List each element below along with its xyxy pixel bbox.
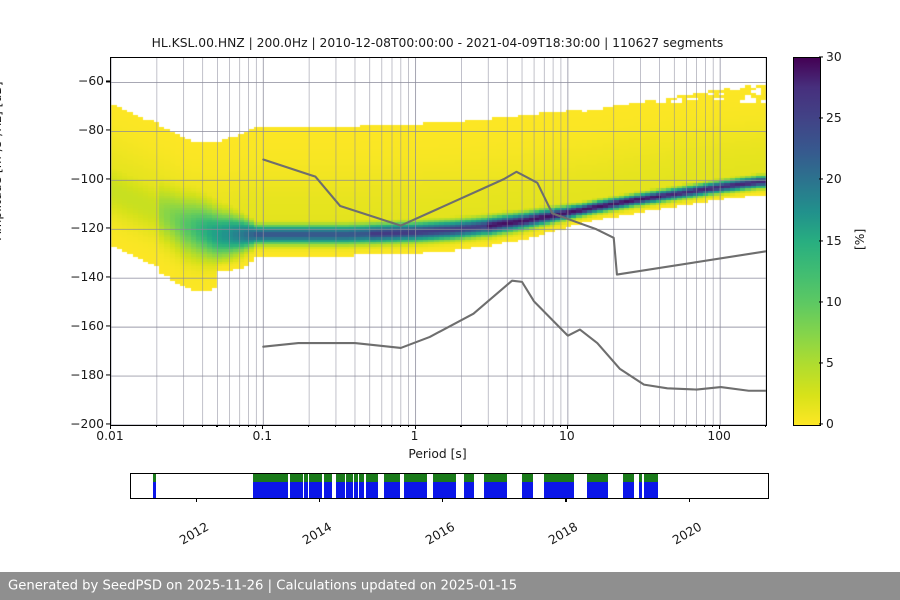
x-axis-tick-mark: [183, 425, 184, 427]
timeline-segment-lower: [153, 482, 155, 498]
x-axis-tick-mark: [696, 425, 697, 427]
timeline-tick-mark: [442, 498, 443, 502]
timeline-segment-upper: [336, 474, 345, 482]
timeline-segment-upper: [324, 474, 331, 482]
y-axis-tick-label: −100: [58, 172, 104, 186]
y-axis-tick-label: −80: [58, 123, 104, 137]
colorbar: [793, 57, 821, 426]
x-axis-tick-mark: [202, 425, 203, 427]
x-axis-tick-mark: [369, 425, 370, 427]
y-axis-tick-mark: [106, 277, 110, 278]
timeline-segment-lower: [304, 482, 308, 498]
timeline-segment-lower: [464, 482, 474, 498]
colorbar-tick-mark: [819, 301, 823, 302]
timeline-segment-upper: [384, 474, 400, 482]
x-axis-tick-mark: [229, 425, 230, 427]
timeline-segment-upper: [309, 474, 323, 482]
x-axis-tick-mark: [543, 425, 544, 427]
timeline-tick-mark: [196, 498, 197, 502]
timeline-tick-label: 2020: [670, 520, 704, 548]
timeline-segment-upper: [644, 474, 658, 482]
x-axis-tick-mark: [354, 425, 355, 427]
timeline-segment-upper: [522, 474, 533, 482]
x-axis-tick-mark: [156, 425, 157, 427]
timeline-tick-mark: [689, 498, 690, 502]
timeline-tick-label: 2016: [423, 520, 457, 548]
timeline-segment-upper: [304, 474, 308, 482]
colorbar-tick-mark: [819, 179, 823, 180]
timeline-segment-upper: [544, 474, 574, 482]
timeline-segment-upper: [464, 474, 474, 482]
x-axis-tick-mark: [248, 425, 249, 427]
y-axis-label: Amplitude [m²/s⁴/Hz] [dB]: [0, 82, 4, 241]
timeline-segment-upper: [153, 474, 155, 482]
x-axis-tick-mark: [308, 425, 309, 427]
x-axis-tick-label: 0.01: [96, 429, 123, 443]
x-axis-tick-label: 0.1: [253, 429, 273, 443]
x-axis-tick-mark: [391, 425, 392, 427]
timeline-segment-lower: [484, 482, 507, 498]
x-axis-tick-mark: [460, 425, 461, 427]
x-axis-tick-label: 1: [411, 429, 419, 443]
colorbar-tick-label: 10: [826, 295, 842, 309]
y-axis-tick-label: −140: [58, 270, 104, 284]
timeline-segment-lower: [522, 482, 533, 498]
timeline-segment-lower: [644, 482, 658, 498]
colorbar-tick-label: 30: [826, 50, 842, 64]
timeline-segment-upper: [354, 474, 357, 482]
x-axis-tick-mark: [521, 425, 522, 427]
y-axis-tick-label: −180: [58, 368, 104, 382]
y-axis-tick-mark: [106, 130, 110, 131]
footer-text: Generated by SeedPSD on 2025-11-26 | Cal…: [8, 579, 517, 594]
x-axis-tick-mark: [216, 425, 217, 427]
x-axis-tick-mark: [533, 425, 534, 427]
x-axis-tick-mark: [673, 425, 674, 427]
colorbar-tick-label: 5: [826, 356, 834, 370]
colorbar-tick-mark: [819, 56, 823, 57]
x-axis-tick-mark: [239, 425, 240, 427]
x-axis-tick-label: 10: [559, 429, 575, 443]
timeline-segment-upper: [366, 474, 379, 482]
x-axis-label: Period [s]: [110, 447, 765, 461]
timeline-segment-upper: [639, 474, 641, 482]
x-axis-tick-mark: [381, 425, 382, 427]
timeline-segment-lower: [639, 482, 641, 498]
x-axis-tick-mark: [712, 425, 713, 427]
timeline-segment-upper: [253, 474, 288, 482]
y-axis-tick-mark: [106, 326, 110, 327]
timeline-tick-label: 2012: [177, 520, 211, 548]
timeline-segment-lower: [404, 482, 427, 498]
colorbar-tick-mark: [819, 362, 823, 363]
timeline-segment-upper: [404, 474, 427, 482]
colorbar-unit-label: [%]: [853, 229, 867, 250]
x-axis-tick-label: 100: [707, 429, 730, 443]
timeline-segment-upper: [433, 474, 456, 482]
timeline-tick-mark: [565, 498, 566, 502]
colorbar-tick-mark: [819, 423, 823, 424]
x-axis-tick-mark: [560, 425, 561, 427]
timeline-segment-lower: [433, 482, 456, 498]
timeline-segment-lower: [544, 482, 574, 498]
colorbar-tick-label: 0: [826, 417, 834, 431]
timeline-tick-mark: [319, 498, 320, 502]
timeline-segment-lower: [324, 482, 331, 498]
timeline-segment-upper: [623, 474, 633, 482]
x-axis-tick-mark: [765, 425, 766, 427]
psd-figure: HL.KSL.00.HNZ | 200.0Hz | 2010-12-08T00:…: [0, 0, 900, 600]
y-axis-tick-label: −160: [58, 319, 104, 333]
timeline-segment-lower: [309, 482, 323, 498]
data-coverage-timeline[interactable]: [130, 473, 769, 499]
psd-plot-area: [110, 57, 767, 426]
x-axis-tick-mark: [400, 425, 401, 427]
y-axis-tick-mark: [106, 375, 110, 376]
x-axis-tick-mark: [613, 425, 614, 427]
x-axis-tick-mark: [552, 425, 553, 427]
colorbar-tick-mark: [819, 240, 823, 241]
timeline-tick-label: 2014: [300, 520, 334, 548]
timeline-segment-lower: [290, 482, 302, 498]
x-axis-tick-mark: [487, 425, 488, 427]
timeline-segment-upper: [346, 474, 352, 482]
timeline-tick-label: 2018: [547, 520, 581, 548]
psd-density-heatmap: [111, 58, 766, 425]
timeline-segment-lower: [354, 482, 357, 498]
timeline-segment-lower: [336, 482, 345, 498]
timeline-segment-lower: [346, 482, 352, 498]
x-axis-tick-mark: [685, 425, 686, 427]
timeline-segment-lower: [359, 482, 363, 498]
y-axis-tick-mark: [106, 179, 110, 180]
y-axis-tick-label: −60: [58, 74, 104, 88]
x-axis-tick-mark: [506, 425, 507, 427]
timeline-segment-upper: [290, 474, 302, 482]
colorbar-tick-label: 20: [826, 172, 842, 186]
colorbar-tick-label: 25: [826, 111, 842, 125]
x-axis-tick-mark: [408, 425, 409, 427]
timeline-segment-upper: [359, 474, 363, 482]
timeline-segment-upper: [587, 474, 609, 482]
x-axis-tick-mark: [704, 425, 705, 427]
x-axis-tick-mark: [255, 425, 256, 427]
colorbar-tick-mark: [819, 118, 823, 119]
chart-title: HL.KSL.00.HNZ | 200.0Hz | 2010-12-08T00:…: [110, 36, 765, 50]
timeline-segment-lower: [587, 482, 609, 498]
x-axis-tick-mark: [640, 425, 641, 427]
timeline-segment-lower: [623, 482, 633, 498]
y-axis-tick-mark: [106, 81, 110, 82]
y-axis-tick-label: −120: [58, 221, 104, 235]
timeline-segment-lower: [366, 482, 379, 498]
timeline-segment-lower: [253, 482, 288, 498]
timeline-segment-upper: [484, 474, 507, 482]
y-axis-tick-mark: [106, 228, 110, 229]
colorbar-tick-label: 15: [826, 234, 842, 248]
x-axis-tick-mark: [659, 425, 660, 427]
footer-bar: Generated by SeedPSD on 2025-11-26 | Cal…: [0, 572, 900, 600]
timeline-segment-lower: [384, 482, 400, 498]
x-axis-tick-mark: [335, 425, 336, 427]
